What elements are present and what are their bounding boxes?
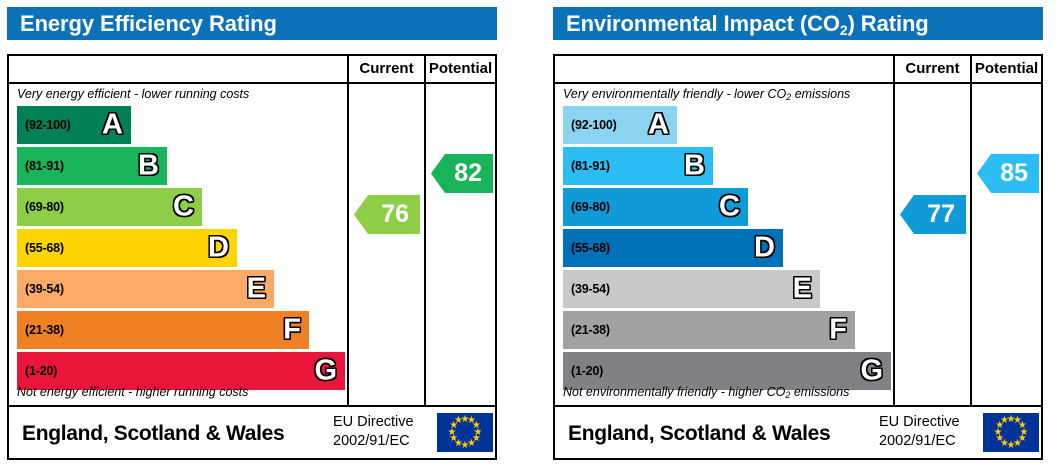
- band-letter-c: C: [719, 193, 740, 222]
- band-range-label: (69-80): [25, 200, 64, 214]
- rating-band-e: (39-54)E: [563, 270, 820, 308]
- eu-directive-label: EU Directive2002/91/EC: [333, 413, 435, 451]
- band-bar: (21-38)F: [17, 311, 309, 349]
- band-range-label: (39-54): [25, 282, 64, 296]
- chart-table: CurrentPotentialVery environmentally fri…: [553, 54, 1043, 460]
- caption-top: Very environmentally friendly - lower CO…: [563, 83, 891, 105]
- potential-rating-value: 82: [454, 159, 482, 187]
- band-bar: (55-68)D: [17, 229, 237, 267]
- caption-top: Very energy efficient - lower running co…: [17, 83, 345, 105]
- rating-band-c: (69-80)C: [563, 188, 748, 226]
- eu-flag-icon: ★★★★★★★★★★★★: [437, 413, 493, 452]
- chart-title-banner: Environmental Impact (CO2) Rating: [553, 7, 1043, 40]
- band-range-label: (81-91): [25, 159, 64, 173]
- current-column-divider: [347, 56, 349, 405]
- band-bar: (69-80)C: [563, 188, 748, 226]
- current-rating-arrow: 77: [900, 195, 966, 234]
- potential-rating-arrow: 85: [977, 154, 1039, 193]
- epc-charts-page: Energy Efficiency RatingCurrentPotential…: [0, 0, 1057, 467]
- band-bar: (69-80)C: [17, 188, 202, 226]
- rating-bands: (92-100)A(81-91)B(69-80)C(55-68)D(39-54)…: [563, 106, 893, 378]
- eu-directive-line2: 2002/91/EC: [879, 432, 981, 451]
- band-letter-e: E: [793, 275, 812, 304]
- rating-band-b: (81-91)B: [563, 147, 713, 185]
- potential-column-divider: [424, 56, 426, 405]
- band-bar: (81-91)B: [563, 147, 713, 185]
- band-range-label: (92-100): [25, 118, 71, 132]
- chart-table: CurrentPotentialVery energy efficient - …: [7, 54, 497, 460]
- chart-title-banner: Energy Efficiency Rating: [7, 7, 497, 40]
- eu-flag-icon: ★★★★★★★★★★★★: [983, 413, 1039, 452]
- band-range-label: (55-68): [25, 241, 64, 255]
- rating-band-e: (39-54)E: [17, 270, 274, 308]
- band-range-label: (69-80): [571, 200, 610, 214]
- eu-flag-star: ★: [1000, 416, 1009, 426]
- band-bar: (39-54)E: [17, 270, 274, 308]
- band-range-label: (81-91): [571, 159, 610, 173]
- band-letter-d: D: [208, 234, 229, 263]
- column-header-potential: Potential: [970, 56, 1043, 82]
- band-range-label: (55-68): [571, 241, 610, 255]
- rating-band-b: (81-91)B: [17, 147, 167, 185]
- band-range-label: (92-100): [571, 118, 617, 132]
- current-rating-value: 77: [927, 200, 955, 228]
- chart-footer: England, Scotland & WalesEU Directive200…: [9, 407, 495, 460]
- band-letter-d: D: [754, 234, 775, 263]
- band-bar: (21-38)F: [563, 311, 855, 349]
- caption-bottom: Not environmentally friendly - higher CO…: [563, 381, 891, 403]
- band-bar: (92-100)A: [563, 106, 677, 144]
- band-letter-c: C: [173, 193, 194, 222]
- eu-flag-star: ★: [454, 416, 463, 426]
- rating-band-d: (55-68)D: [563, 229, 783, 267]
- eu-directive-line1: EU Directive: [333, 413, 435, 432]
- band-range-label: (21-38): [25, 323, 64, 337]
- band-letter-a: A: [648, 111, 669, 140]
- band-bar: (81-91)B: [17, 147, 167, 185]
- band-letter-b: B: [138, 152, 159, 181]
- band-range-label: (21-38): [571, 323, 610, 337]
- eu-directive-line1: EU Directive: [879, 413, 981, 432]
- rating-band-c: (69-80)C: [17, 188, 202, 226]
- potential-column-divider: [970, 56, 972, 405]
- band-letter-a: A: [102, 111, 123, 140]
- band-letter-f: F: [283, 316, 301, 345]
- region-label: England, Scotland & Wales: [568, 422, 830, 446]
- current-rating-value: 76: [381, 200, 409, 228]
- rating-band-a: (92-100)A: [563, 106, 677, 144]
- region-label: England, Scotland & Wales: [22, 422, 284, 446]
- band-range-label: (1-20): [25, 364, 57, 378]
- band-bar: (92-100)A: [17, 106, 131, 144]
- band-range-label: (39-54): [571, 282, 610, 296]
- rating-bands: (92-100)A(81-91)B(69-80)C(55-68)D(39-54)…: [17, 106, 347, 378]
- band-letter-f: F: [829, 316, 847, 345]
- eu-directive-label: EU Directive2002/91/EC: [879, 413, 981, 451]
- rating-band-f: (21-38)F: [17, 311, 309, 349]
- rating-band-d: (55-68)D: [17, 229, 237, 267]
- potential-rating-arrow: 82: [431, 154, 493, 193]
- rating-band-a: (92-100)A: [17, 106, 131, 144]
- rating-band-f: (21-38)F: [563, 311, 855, 349]
- band-bar: (39-54)E: [563, 270, 820, 308]
- band-letter-e: E: [247, 275, 266, 304]
- epc-chart-co2: Environmental Impact (CO2) RatingCurrent…: [546, 0, 1050, 467]
- band-bar: (55-68)D: [563, 229, 783, 267]
- band-range-label: (1-20): [571, 364, 603, 378]
- chart-footer: England, Scotland & WalesEU Directive200…: [555, 407, 1041, 460]
- eu-directive-line2: 2002/91/EC: [333, 432, 435, 451]
- current-column-divider: [893, 56, 895, 405]
- column-header-potential: Potential: [424, 56, 497, 82]
- column-header-current: Current: [893, 56, 972, 82]
- column-header-current: Current: [347, 56, 426, 82]
- potential-rating-value: 85: [1000, 159, 1028, 187]
- current-rating-arrow: 76: [354, 195, 420, 234]
- caption-bottom: Not energy efficient - higher running co…: [17, 381, 345, 403]
- epc-chart-energy: Energy Efficiency RatingCurrentPotential…: [0, 0, 504, 467]
- band-letter-b: B: [684, 152, 705, 181]
